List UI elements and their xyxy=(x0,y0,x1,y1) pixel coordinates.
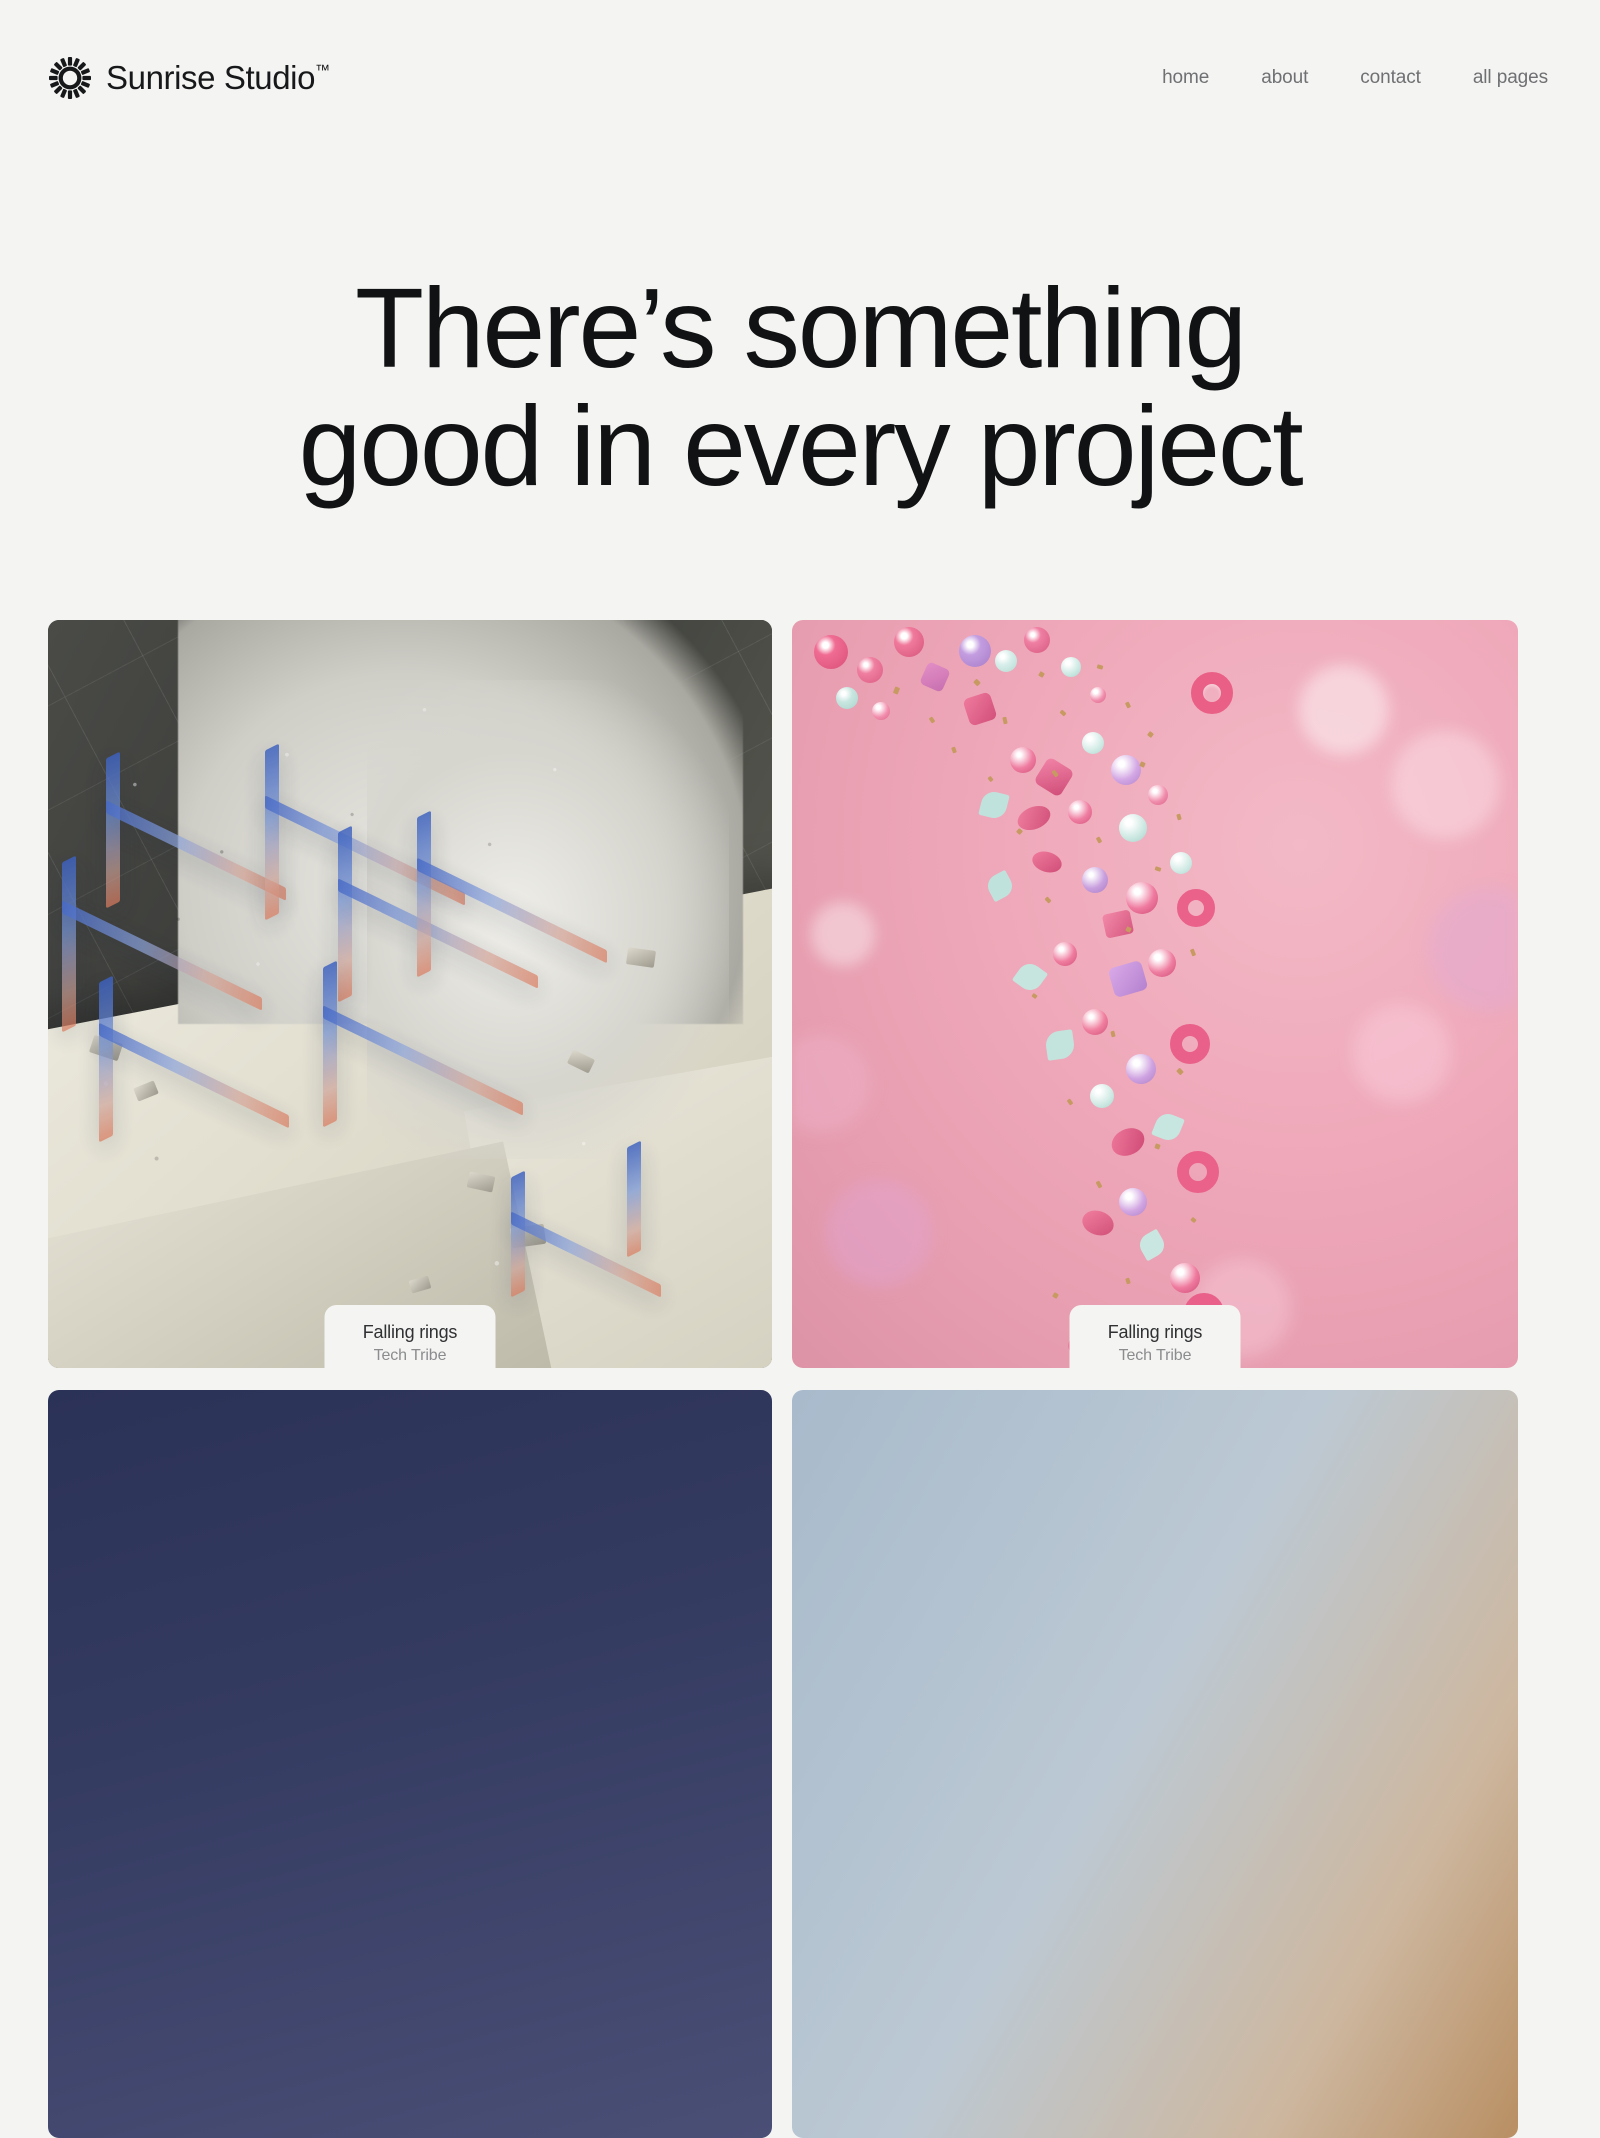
main-navigation: home about contact all pages xyxy=(1162,61,1548,95)
project-title: Falling rings xyxy=(1080,1320,1231,1344)
project-caption: Falling rings Tech Tribe xyxy=(325,1305,496,1368)
gallery-card[interactable]: Falling rings Tech Tribe xyxy=(792,620,1518,1368)
nav-link-all-pages[interactable]: all pages xyxy=(1473,61,1548,95)
gallery-card[interactable]: Falling rings Tech Tribe xyxy=(48,620,772,1368)
project-thumbnail-blue-grey xyxy=(792,1390,1518,2138)
page-title-line-1: There’s something xyxy=(0,270,1600,388)
project-gallery: Falling rings Tech Tribe xyxy=(48,620,1518,2138)
sunburst-icon xyxy=(48,56,92,100)
brand-name: Sunrise Studio™ xyxy=(106,59,330,97)
project-client: Tech Tribe xyxy=(1080,1344,1231,1368)
nav-link-contact[interactable]: contact xyxy=(1360,61,1421,95)
gallery-card[interactable] xyxy=(792,1390,1518,2138)
nav-link-about[interactable]: about xyxy=(1261,61,1308,95)
hero-section: There’s something good in every project xyxy=(0,270,1600,505)
project-thumbnail-pink-candy xyxy=(792,620,1518,1368)
project-title: Falling rings xyxy=(335,1320,486,1344)
project-client: Tech Tribe xyxy=(335,1344,486,1368)
nav-link-home[interactable]: home xyxy=(1162,61,1209,95)
site-header: Sunrise Studio™ home about contact all p… xyxy=(0,0,1600,156)
brand-name-text: Sunrise Studio xyxy=(106,59,315,96)
project-thumbnail-grey-rubble xyxy=(48,620,772,1368)
brand-logo[interactable]: Sunrise Studio™ xyxy=(48,56,330,100)
project-thumbnail-navy xyxy=(48,1390,772,2138)
brand-trademark: ™ xyxy=(315,62,330,79)
gallery-card[interactable] xyxy=(48,1390,772,2138)
page-title: There’s something good in every project xyxy=(0,270,1600,505)
project-caption: Falling rings Tech Tribe xyxy=(1070,1305,1241,1368)
page-title-line-2: good in every project xyxy=(0,388,1600,506)
